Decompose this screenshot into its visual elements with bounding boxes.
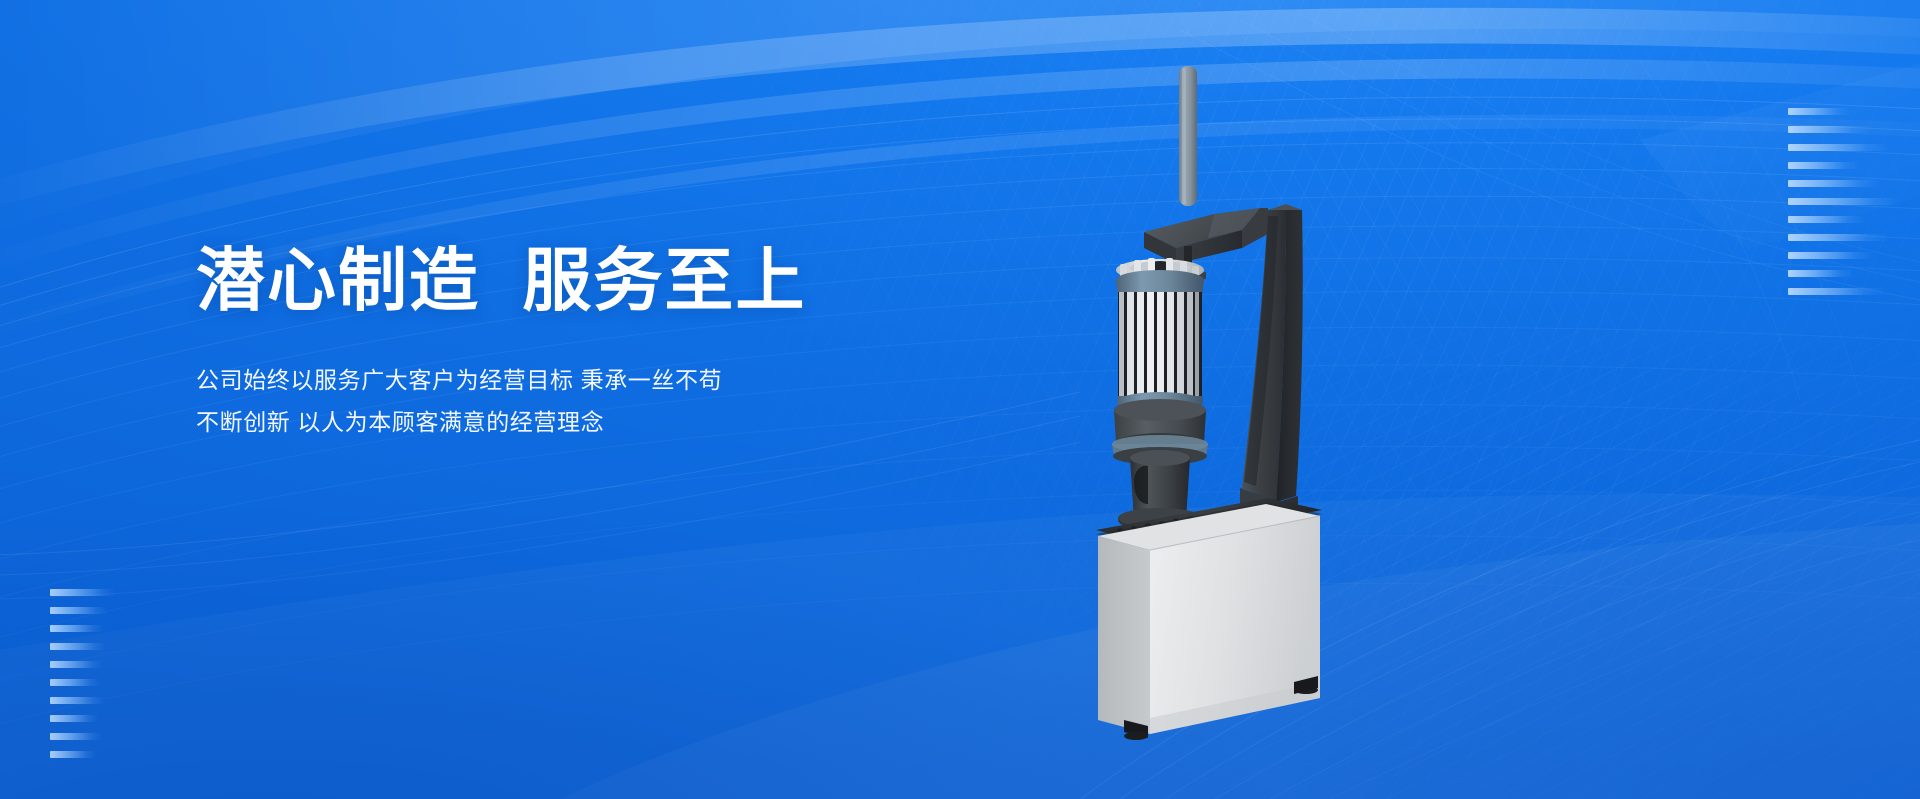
accent-bar (50, 607, 108, 614)
subtitle-line-2: 不断创新 以人为本顾客满意的经营理念 (196, 401, 1016, 443)
accent-bar (50, 733, 102, 740)
accent-bar (1788, 234, 1888, 241)
accent-bar (50, 697, 104, 704)
accent-bar (1788, 198, 1900, 205)
accent-bar (50, 679, 100, 686)
accent-bar (1788, 270, 1854, 277)
accent-bar (50, 751, 96, 758)
accent-bar (1788, 252, 1874, 259)
cantilever-arm (1144, 208, 1268, 264)
accent-bar (1788, 126, 1870, 133)
cooling-fins (1119, 292, 1199, 400)
accent-bar (50, 661, 102, 668)
mount-flange (1112, 399, 1208, 531)
accent-bar (50, 589, 116, 596)
subtitle-line-1: 公司始终以服务广大客户为经营目标 秉承一丝不苟 (196, 359, 1016, 401)
rubber-foot (1124, 732, 1148, 740)
accent-bar (1788, 180, 1880, 187)
accent-bar (50, 643, 106, 650)
accent-bar (1788, 162, 1860, 169)
vertical-probe-rod (1179, 66, 1197, 206)
support-column (1240, 204, 1303, 510)
hero-banner: 潜心制造 服务至上 公司始终以服务广大客户为经营目标 秉承一丝不苟 不断创新 以… (0, 0, 1920, 799)
page-title: 潜心制造 服务至上 (196, 246, 1016, 315)
banner-copy: 潜心制造 服务至上 公司始终以服务广大客户为经营目标 秉承一丝不苟 不断创新 以… (196, 246, 1016, 443)
product-image-vertical-shaft-testing-machine (1090, 58, 1420, 758)
base-cabinet (1096, 502, 1322, 734)
banner-subtitle: 公司始终以服务广大客户为经营目标 秉承一丝不苟 不断创新 以人为本顾客满意的经营… (196, 359, 1016, 443)
finned-motor-housing (1116, 258, 1204, 412)
accent-bar (1788, 288, 1884, 295)
accent-bar (1788, 108, 1850, 115)
accent-bar (1788, 144, 1890, 151)
accent-bar (50, 715, 98, 722)
accent-bar (1788, 216, 1866, 223)
decorative-bars-right (1788, 108, 1920, 306)
decorative-bars-left (50, 589, 168, 769)
accent-bar (50, 625, 104, 632)
